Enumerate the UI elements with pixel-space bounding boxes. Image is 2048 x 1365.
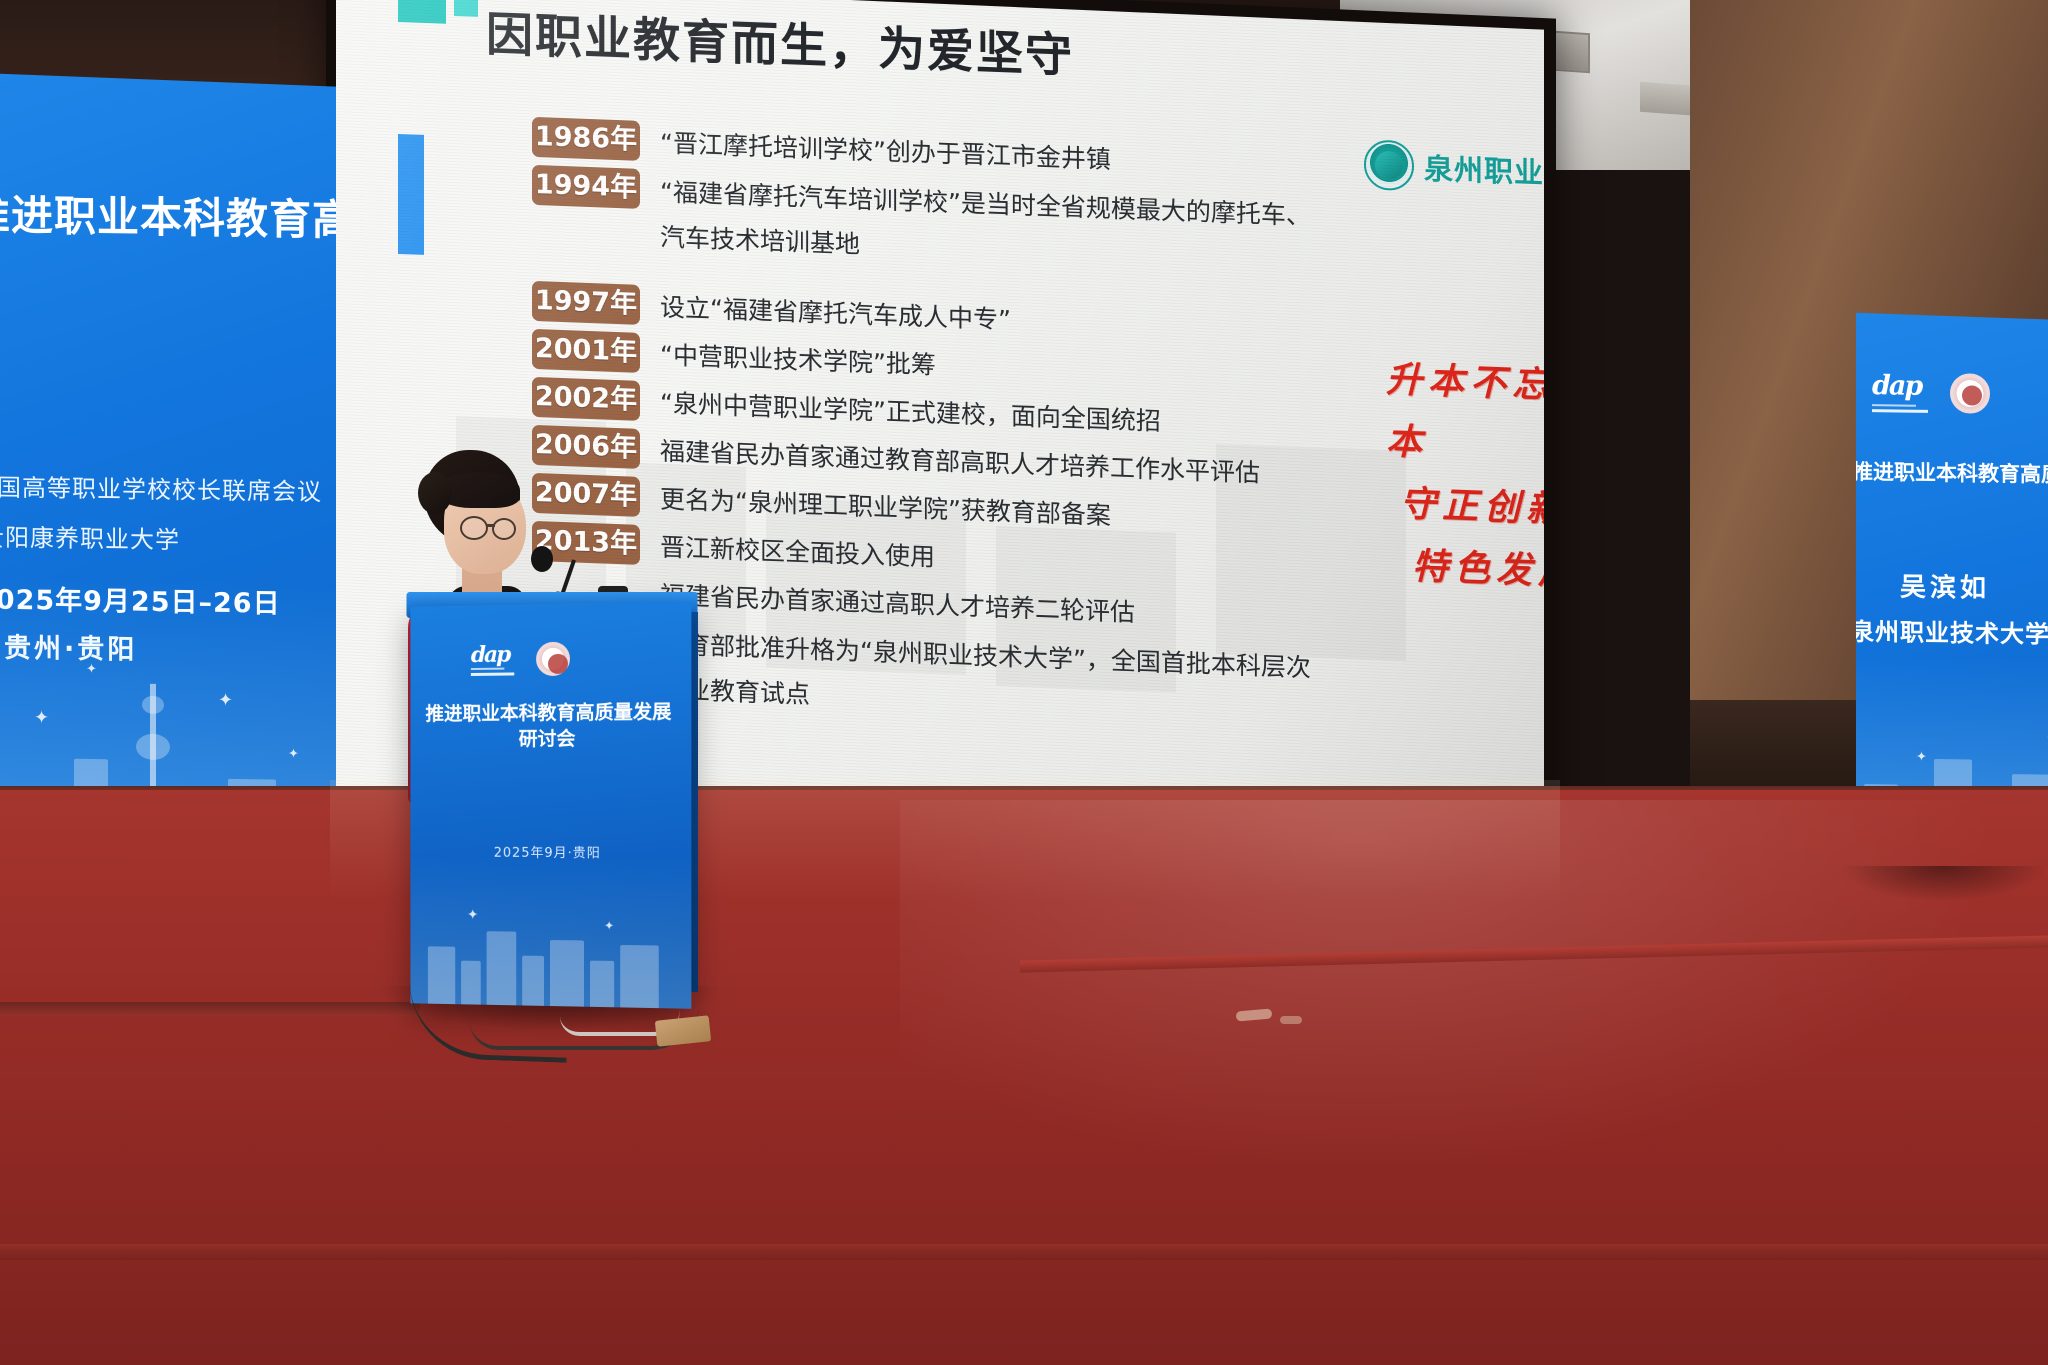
timeline-year: 2002年	[532, 377, 640, 421]
dap-logo-icon: dap	[1872, 372, 1930, 413]
speaker-glasses-bridge	[487, 524, 495, 527]
stage-lip-left	[0, 1002, 420, 1016]
partner-seal-icon	[1950, 373, 1990, 414]
right-banner-logos: dap	[1872, 372, 1990, 414]
timeline-year: 1986年	[532, 117, 640, 161]
stage-step-line-lower	[0, 1244, 2048, 1260]
calligraphy-line-1: 升本不忘本	[1386, 348, 1544, 479]
right-banner-title: 推进职业本科教育高质量发展研讨会	[1856, 456, 2048, 491]
slide-accent-bar-teal	[398, 0, 446, 24]
dap-logo-text: dap	[471, 642, 509, 668]
dap-logo-bar-2	[471, 668, 504, 670]
slide-accent-bar-teal-light	[454, 0, 478, 17]
calligraphy-line-3: 特色发展	[1386, 534, 1544, 603]
left-banner-title: 推进职业本科教育高质量发展研讨会	[0, 187, 336, 249]
slide-title: 因职业教育而生，为爱坚守	[486, 0, 1074, 86]
university-logo-name: 泉州职业技术大学	[1424, 146, 1544, 197]
podium-front-panel: ✦ ✦ dap 推进职业本科教育高质量发展 研讨会 2025年9月·贵阳	[410, 601, 691, 1009]
speaker-glasses-left-lens	[460, 516, 488, 540]
university-logo: 泉州职业技术大学	[1364, 139, 1544, 200]
slide-calligraphy: 升本不忘本 守正创新 特色发展	[1386, 348, 1544, 603]
timeline-year: 1997年	[532, 281, 640, 325]
podium-date: 2025年9月·贵阳	[424, 842, 673, 862]
speaker-name: 吴滨如	[1900, 567, 1990, 605]
dap-logo-bar	[471, 672, 514, 676]
dap-logo-icon: dap	[471, 644, 516, 676]
speaker-role: 泉州职业技术大学校长	[1856, 612, 2048, 650]
podium-title-line-2: 研讨会	[424, 725, 673, 753]
speaker-hair-clip	[418, 472, 452, 514]
timeline-year: 1994年	[532, 165, 640, 209]
timeline-desc: 教育部批准升格为“泉州职业技术大学”，全国首批本科层次职业教育试点	[660, 622, 1322, 736]
left-banner-org-line-1: 全国高等职业学校校长联席会议	[0, 467, 322, 507]
podium-title-line-1: 推进职业本科教育高质量发展	[424, 699, 673, 727]
floor-debris-2	[1280, 1016, 1302, 1024]
timeline-year: 2001年	[532, 329, 640, 373]
slide-accent-bar-blue	[398, 134, 424, 255]
timeline-desc: “福建省摩托汽车培训学校”是当时全省规模最大的摩托车、汽车技术培训基地	[660, 170, 1322, 284]
dap-logo-bar-2	[1872, 404, 1916, 407]
right-banner-shadow	[1840, 866, 2048, 902]
conference-stage-scene: 因职业教育而生，为爱坚守 泉州职业技术大学 1986年 “晋江摩托培训学校”创办…	[0, 0, 2048, 1365]
podium-logos: dap	[471, 642, 570, 677]
partner-seal-icon	[536, 642, 570, 676]
university-seal-icon	[1364, 139, 1414, 191]
dap-logo-bar	[1872, 409, 1928, 413]
podium-title: 推进职业本科教育高质量发展 研讨会	[424, 699, 673, 753]
calligraphy-line-2: 守正创新	[1386, 472, 1544, 541]
dap-logo-text: dap	[1872, 370, 1921, 402]
speaker-glasses-right-lens	[492, 518, 516, 540]
microphone-head-icon	[531, 546, 553, 572]
left-banner-org-line-2: 贵阳康养职业大学	[0, 517, 180, 555]
